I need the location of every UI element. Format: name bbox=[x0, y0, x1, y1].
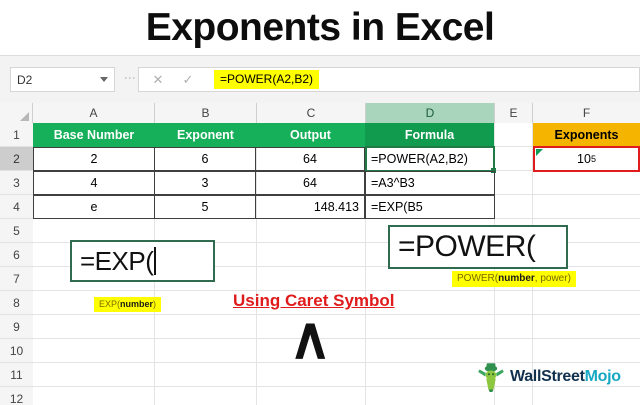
row-header-4[interactable]: 4 bbox=[0, 195, 33, 219]
cell-d1-header[interactable]: Formula bbox=[365, 123, 494, 147]
exp-formula-text: =EXP( bbox=[80, 248, 153, 274]
column-header-f[interactable]: F bbox=[533, 103, 640, 123]
column-header-b[interactable]: B bbox=[155, 103, 257, 123]
cell-b3[interactable]: 3 bbox=[154, 171, 256, 195]
cell-b1-header[interactable]: Exponent bbox=[155, 123, 256, 147]
brand-logo: WallStreetMojo bbox=[477, 362, 621, 392]
formula-input-value: =POWER(A2,B2) bbox=[214, 70, 319, 89]
power-formula-entry-box[interactable]: =POWER( bbox=[388, 225, 568, 269]
name-box-value: D2 bbox=[17, 73, 100, 87]
row-header-6[interactable]: 6 bbox=[0, 243, 33, 267]
name-box[interactable]: D2 bbox=[10, 67, 115, 92]
formula-input[interactable]: =POWER(A2,B2) bbox=[208, 67, 640, 92]
brand-name-second: Mojo bbox=[585, 368, 621, 385]
wallstreetmojo-mascot-icon bbox=[477, 362, 505, 392]
exp-tooltip-prefix: EXP( bbox=[99, 299, 120, 309]
screenshot-root: Exponents in Excel D2 ⋮ ✕ ✓ fx =POWER(A2… bbox=[0, 0, 640, 405]
text-cursor bbox=[154, 247, 156, 275]
exp-tooltip-bold: number bbox=[120, 299, 153, 309]
power-formula-text: =POWER( bbox=[398, 232, 535, 262]
row-header-5[interactable]: 5 bbox=[0, 219, 33, 243]
cell-d4[interactable]: =EXP(B5 bbox=[365, 195, 495, 219]
exp-tooltip-suffix: ) bbox=[153, 299, 156, 309]
cell-a1-header[interactable]: Base Number bbox=[33, 123, 155, 147]
row-header-1[interactable]: 1 bbox=[0, 123, 33, 147]
caret-symbol-glyph: ∧ bbox=[289, 318, 331, 360]
exp-function-tooltip: EXP(number) bbox=[94, 297, 161, 312]
row-header-2[interactable]: 2 bbox=[0, 147, 33, 171]
row-header-7[interactable]: 7 bbox=[0, 267, 33, 291]
cell-f2-exponent[interactable]: 105 bbox=[533, 147, 640, 171]
chevron-down-icon[interactable] bbox=[100, 77, 108, 82]
cell-a3[interactable]: 4 bbox=[33, 171, 155, 195]
row-header-10[interactable]: 10 bbox=[0, 339, 33, 363]
power-tooltip-suffix: , power) bbox=[535, 273, 571, 284]
cell-f1-header[interactable]: Exponents bbox=[533, 123, 640, 147]
column-header-a[interactable]: A bbox=[33, 103, 155, 123]
cell-a2[interactable]: 2 bbox=[33, 147, 155, 171]
page-title-banner: Exponents in Excel bbox=[0, 0, 640, 55]
row-header-3[interactable]: 3 bbox=[0, 171, 33, 195]
column-header-c[interactable]: C bbox=[257, 103, 366, 123]
cell-b4[interactable]: 5 bbox=[154, 195, 256, 219]
row-header-column: 1 2 3 4 5 6 7 8 9 10 11 12 bbox=[0, 123, 33, 405]
exponent-power: 5 bbox=[591, 154, 596, 164]
exp-formula-entry-box[interactable]: =EXP( bbox=[70, 240, 215, 282]
brand-logo-text: WallStreetMojo bbox=[510, 368, 621, 386]
cell-a4[interactable]: e bbox=[33, 195, 155, 219]
check-icon[interactable]: ✓ bbox=[173, 68, 203, 91]
cell-b2[interactable]: 6 bbox=[154, 147, 256, 171]
cell-c4[interactable]: 148.413 bbox=[255, 195, 365, 219]
brand-name-first: WallStreet bbox=[510, 368, 585, 385]
row-header-12[interactable]: 12 bbox=[0, 387, 33, 405]
power-tooltip-prefix: POWER( bbox=[457, 273, 498, 284]
active-cell-selection-d2 bbox=[365, 146, 495, 172]
gridline-h bbox=[33, 314, 640, 315]
row-header-9[interactable]: 9 bbox=[0, 315, 33, 339]
row-header-11[interactable]: 11 bbox=[0, 363, 33, 387]
select-all-corner[interactable] bbox=[0, 103, 33, 123]
exponent-base: 10 bbox=[577, 152, 591, 166]
power-tooltip-bold: number bbox=[498, 273, 535, 284]
column-header-e[interactable]: E bbox=[495, 103, 533, 123]
cell-c1-header[interactable]: Output bbox=[256, 123, 365, 147]
cell-c3[interactable]: 64 bbox=[255, 171, 365, 195]
formula-bar: D2 ⋮ ✕ ✓ fx =POWER(A2,B2) bbox=[0, 55, 640, 103]
drag-handle-dots-icon[interactable]: ⋮ bbox=[124, 72, 136, 84]
page-title: Exponents in Excel bbox=[146, 8, 495, 47]
gridline-h bbox=[33, 338, 640, 339]
close-icon[interactable]: ✕ bbox=[143, 68, 173, 91]
column-header-d[interactable]: D bbox=[366, 103, 495, 123]
power-function-tooltip: POWER(number, power) bbox=[452, 271, 576, 287]
column-header-row: A B C D E F bbox=[0, 103, 640, 123]
cell-c2[interactable]: 64 bbox=[255, 147, 365, 171]
row-header-8[interactable]: 8 bbox=[0, 291, 33, 315]
select-all-triangle-icon bbox=[20, 112, 29, 121]
cell-d3[interactable]: =A3^B3 bbox=[365, 171, 495, 195]
